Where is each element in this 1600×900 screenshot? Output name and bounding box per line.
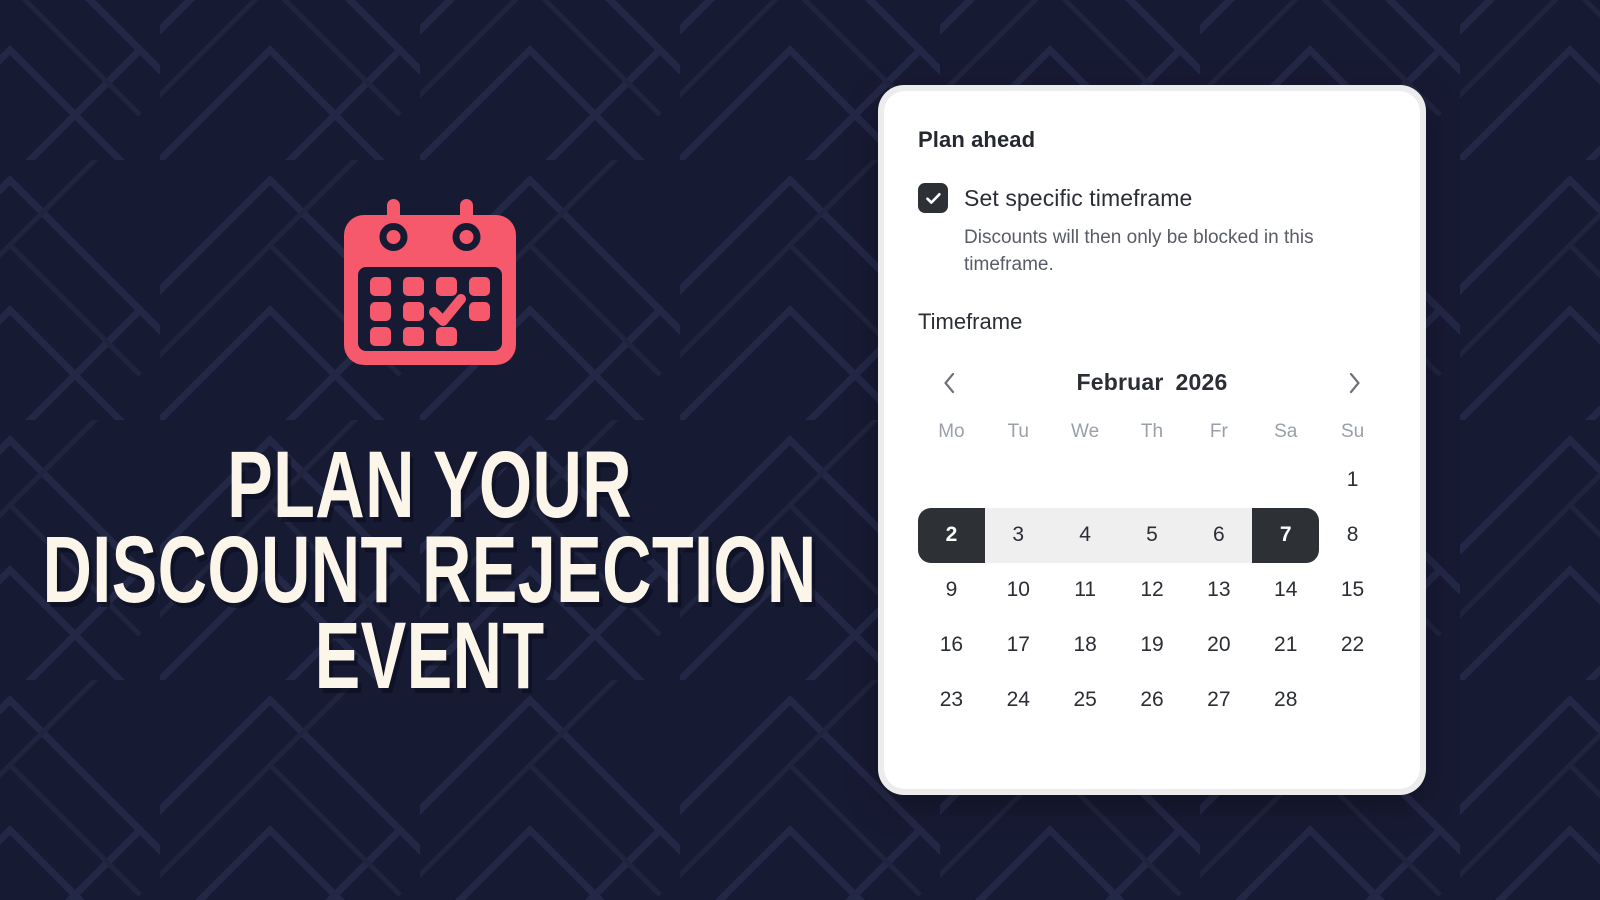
- calendar-day-number: 20: [1207, 633, 1230, 657]
- calendar-day-blank: 0: [1052, 453, 1119, 508]
- calendar-day-19[interactable]: 19: [1119, 618, 1186, 673]
- calendar-day-blank: 0: [1119, 453, 1186, 508]
- hero-title-line-1: PLAN YOUR: [43, 443, 817, 529]
- calendar-day-7[interactable]: 7: [1252, 508, 1319, 563]
- calendar-day-number: 7: [1280, 523, 1292, 547]
- calendar-day-25[interactable]: 25: [1052, 673, 1119, 728]
- timeframe-field-label: Timeframe: [918, 309, 1386, 335]
- calendar-day-blank: 0: [1185, 453, 1252, 508]
- calendar-day-number: 12: [1140, 578, 1163, 602]
- calendar-year: 2026: [1176, 369, 1228, 396]
- calendar-month-year: Februar 2026: [1076, 369, 1227, 396]
- calendar-day-number: 8: [1347, 523, 1359, 547]
- hero-title-line-3: EVENT: [43, 614, 817, 700]
- calendar-day-blank: 0: [1252, 453, 1319, 508]
- hero-title-line-2: DISCOUNT REJECTION: [43, 528, 817, 614]
- set-timeframe-description: Discounts will then only be blocked in t…: [964, 225, 1386, 279]
- calendar-day-1[interactable]: 1: [1319, 453, 1386, 508]
- calendar-day-22[interactable]: 22: [1319, 618, 1386, 673]
- calendar-day-28[interactable]: 28: [1252, 673, 1319, 728]
- calendar-month: Februar: [1076, 369, 1163, 396]
- page-title: Plan ahead: [918, 127, 1386, 153]
- calendar-day-blank: 0: [985, 453, 1052, 508]
- calendar-day-20[interactable]: 20: [1185, 618, 1252, 673]
- calendar-weekday-tu: Tu: [985, 421, 1052, 443]
- calendar-day-number: 27: [1207, 688, 1230, 712]
- calendar-day-number: 17: [1007, 633, 1030, 657]
- calendar-day-number: 18: [1073, 633, 1096, 657]
- calendar-day-number: 6: [1213, 523, 1225, 547]
- calendar-day-14[interactable]: 14: [1252, 563, 1319, 618]
- calendar-day-number: 4: [1079, 523, 1091, 547]
- chevron-right-icon[interactable]: [1338, 366, 1372, 400]
- calendar-day-number: 25: [1073, 688, 1096, 712]
- calendar-day-3[interactable]: 3: [985, 508, 1052, 563]
- calendar-day-number: 19: [1140, 633, 1163, 657]
- calendar-day-blank: 0: [918, 453, 985, 508]
- calendar-day-number: 22: [1341, 633, 1364, 657]
- calendar-header: Februar 2026: [918, 361, 1386, 405]
- set-timeframe-label: Set specific timeframe: [964, 185, 1192, 212]
- settings-card-frame: Plan ahead Set specific timeframe Discou…: [878, 85, 1426, 795]
- hero-panel: PLAN YOUR DISCOUNT REJECTION EVENT: [0, 0, 860, 900]
- calendar-day-6[interactable]: 6: [1185, 508, 1252, 563]
- calendar-weekday-mo: Mo: [918, 421, 985, 443]
- calendar-day-number: 28: [1274, 688, 1297, 712]
- calendar-day-12[interactable]: 12: [1119, 563, 1186, 618]
- calendar-day-number: 21: [1274, 633, 1297, 657]
- calendar-check-icon: [330, 181, 530, 381]
- calendar-day-11[interactable]: 11: [1052, 563, 1119, 618]
- calendar-weekday-header: MoTuWeThFrSaSu: [918, 421, 1386, 443]
- calendar-day-number: 13: [1207, 578, 1230, 602]
- calendar-weekday-th: Th: [1119, 421, 1186, 443]
- calendar-day-number: 2: [946, 523, 958, 547]
- calendar-day-16[interactable]: 16: [918, 618, 985, 673]
- calendar-day-13[interactable]: 13: [1185, 563, 1252, 618]
- calendar-day-number: 16: [940, 633, 963, 657]
- calendar-day-17[interactable]: 17: [985, 618, 1052, 673]
- calendar-day-27[interactable]: 27: [1185, 673, 1252, 728]
- calendar-day-8[interactable]: 8: [1319, 508, 1386, 563]
- calendar-day-number: 5: [1146, 523, 1158, 547]
- calendar-day-grid[interactable]: 0000001234567891011121314151617181920212…: [918, 453, 1386, 728]
- settings-card: Plan ahead Set specific timeframe Discou…: [884, 91, 1420, 789]
- calendar-day-21[interactable]: 21: [1252, 618, 1319, 673]
- calendar-day-9[interactable]: 9: [918, 563, 985, 618]
- calendar-weekday-fr: Fr: [1185, 421, 1252, 443]
- calendar-day-10[interactable]: 10: [985, 563, 1052, 618]
- calendar-day-number: 26: [1140, 688, 1163, 712]
- hero-title: PLAN YOUR DISCOUNT REJECTION EVENT: [43, 443, 817, 700]
- calendar-weekday-sa: Sa: [1252, 421, 1319, 443]
- calendar-day-number: 1: [1347, 468, 1359, 492]
- calendar-day-number: 10: [1007, 578, 1030, 602]
- calendar-day-number: 23: [940, 688, 963, 712]
- calendar-day-2[interactable]: 2: [918, 508, 985, 563]
- calendar-day-5[interactable]: 5: [1119, 508, 1186, 563]
- calendar-day-number: 11: [1074, 578, 1096, 602]
- calendar-day-number: 14: [1274, 578, 1297, 602]
- chevron-left-icon[interactable]: [932, 366, 966, 400]
- calendar-day-number: 3: [1012, 523, 1024, 547]
- calendar-day-26[interactable]: 26: [1119, 673, 1186, 728]
- calendar-day-15[interactable]: 15: [1319, 563, 1386, 618]
- calendar-weekday-su: Su: [1319, 421, 1386, 443]
- checkbox-checked-icon[interactable]: [918, 183, 948, 213]
- set-timeframe-checkbox-row[interactable]: Set specific timeframe: [918, 183, 1386, 213]
- date-range-picker[interactable]: Februar 2026 MoTuWeThFrSaSu 000000123456…: [918, 361, 1386, 728]
- calendar-weekday-we: We: [1052, 421, 1119, 443]
- calendar-day-number: 15: [1341, 578, 1364, 602]
- calendar-day-4[interactable]: 4: [1052, 508, 1119, 563]
- calendar-day-number: 24: [1007, 688, 1030, 712]
- calendar-day-18[interactable]: 18: [1052, 618, 1119, 673]
- calendar-day-23[interactable]: 23: [918, 673, 985, 728]
- calendar-day-24[interactable]: 24: [985, 673, 1052, 728]
- calendar-day-number: 9: [946, 578, 958, 602]
